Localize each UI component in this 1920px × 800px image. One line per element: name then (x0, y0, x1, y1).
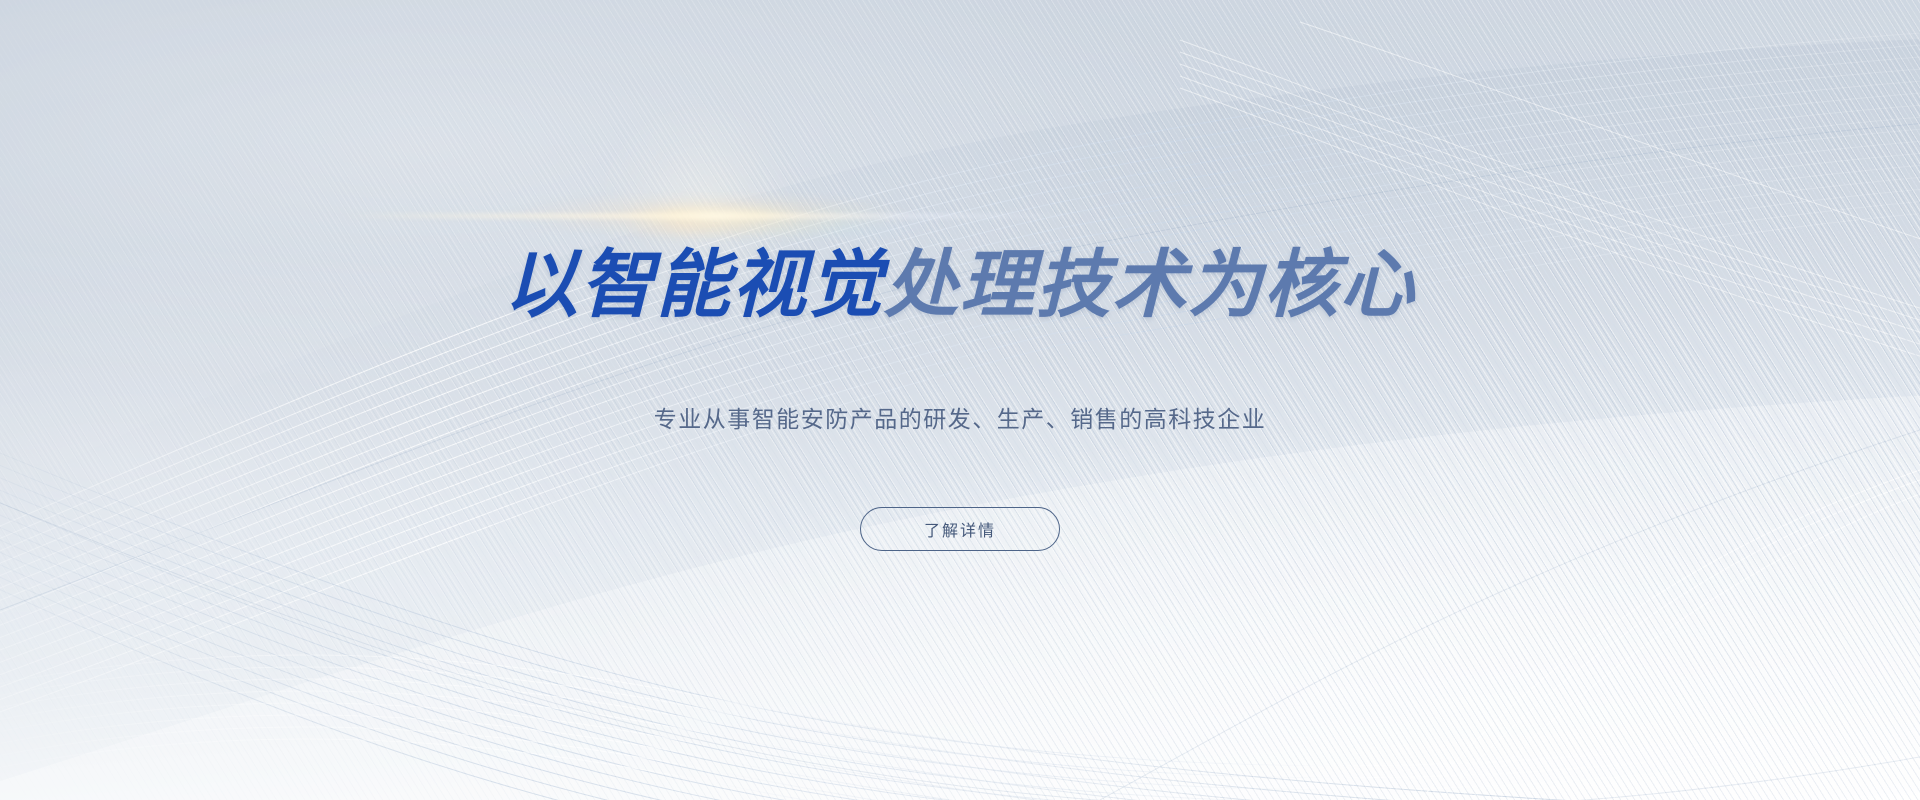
hero-banner: 以智能视觉处理技术为核心 专业从事智能安防产品的研发、生产、销售的高科技企业 了… (0, 0, 1920, 800)
headline-accent-part: 以智能视觉 (504, 243, 884, 326)
hero-headline: 以智能视觉处理技术为核心 (0, 248, 1920, 322)
hero-content: 以智能视觉处理技术为核心 专业从事智能安防产品的研发、生产、销售的高科技企业 了… (0, 0, 1920, 800)
headline-muted-part: 处理技术为核心 (884, 243, 1416, 326)
hero-subtitle: 专业从事智能安防产品的研发、生产、销售的高科技企业 (0, 400, 1920, 434)
learn-more-button[interactable]: 了解详情 (860, 507, 1060, 551)
